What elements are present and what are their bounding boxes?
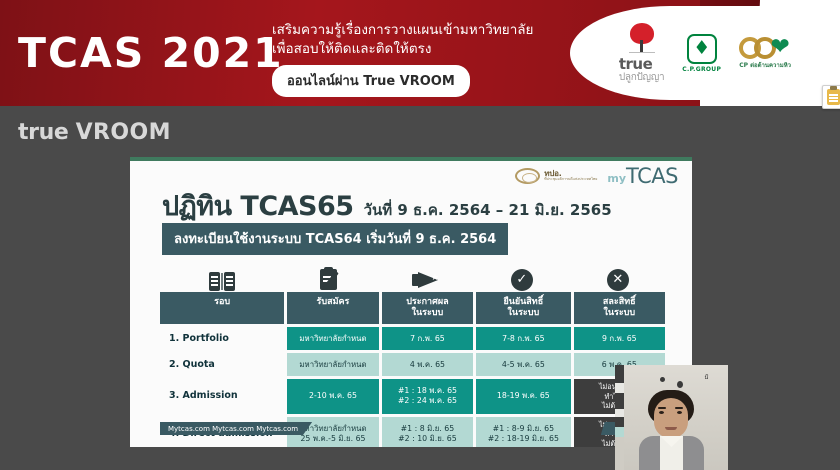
slide-title: ปฏิทิน TCAS65 <box>162 184 354 227</box>
webcam-left-strip <box>615 365 624 470</box>
column-header-waive: สละสิทธิ์ในระบบ <box>574 292 665 324</box>
rings-heart-icon: ❤ <box>739 37 791 59</box>
cell-round: 2. Quota <box>160 353 284 376</box>
cell-confirm: 4-5 พ.ค. 65 <box>476 353 570 376</box>
table-row: 1. Portfolio มหาวิทยาลัยกำหนด 7 ก.พ. 65 … <box>160 327 665 350</box>
true-logo-text: true <box>619 57 664 73</box>
slide-title-date-range: วันที่ 9 ธ.ค. 2564 – 21 มิ.ย. 2565 <box>364 198 612 222</box>
column-header-apply: รับสมัคร <box>287 292 378 324</box>
footer-contacts: Mytcas.com Mytcas.com Mytcas.com <box>160 422 312 435</box>
vroom-brand-true: true <box>18 120 68 145</box>
cp-heart-caption: CP ต่อต้านความหิว <box>739 60 791 70</box>
true-logo-subtext: ปลูกปัญญา <box>619 73 664 84</box>
cell-confirm: 7-8 ก.พ. 65 <box>476 327 570 350</box>
tpo-emblem-icon <box>515 168 540 184</box>
cp-group-caption: C.P.GROUP <box>682 66 721 73</box>
icon-cell-round <box>160 272 284 291</box>
cell-round: 3. Admission <box>160 379 284 414</box>
cell-announce: 4 พ.ค. 65 <box>382 353 473 376</box>
column-header-round: รอบ <box>160 292 284 324</box>
cell-waive: 9 ก.พ. 65 <box>574 327 665 350</box>
tpo-logo: ทปอ. ที่ประชุมอธิการบดีแห่งประเทศไทย <box>515 168 597 184</box>
true-pluk-panya-logo: true ปลูกปัญญา <box>619 23 664 83</box>
icon-cell-apply <box>284 267 378 291</box>
banner-text-block: เสริมความรู้เรื่องการวางแผนเข้ามหาวิทยาล… <box>272 20 572 97</box>
cp-group-logo: ♦ C.P.GROUP <box>682 34 721 73</box>
column-header-confirm: ยืนยันสิทธิ์ในระบบ <box>476 292 570 324</box>
slide-logo-group: ทปอ. ที่ประชุมอธิการบดีแห่งประเทศไทย my … <box>515 166 678 186</box>
cell-apply: มหาวิทยาลัยกำหนด <box>287 327 378 350</box>
icon-cell-waive: ✕ <box>571 269 665 291</box>
slide-footer: Mytcas.com Mytcas.com Mytcas.com ประกาศ … <box>160 422 665 435</box>
banner-line-1: เสริมความรู้เรื่องการวางแผนเข้ามหาวิทยาล… <box>272 20 572 39</box>
tpo-logo-subtext: ที่ประชุมอธิการบดีแห่งประเทศไทย <box>544 178 597 182</box>
cell-round: 1. Portfolio <box>160 327 284 350</box>
slide-title-row: ปฏิทิน TCAS65 วันที่ 9 ธ.ค. 2564 – 21 มิ… <box>162 184 612 227</box>
cell-confirm: 18-19 พ.ค. 65 <box>476 379 570 414</box>
registration-banner: ลงทะเบียนใช้งานระบบ TCAS64 เริ่มวันที่ 9… <box>162 223 508 255</box>
icon-cell-confirm: ✓ <box>473 269 570 291</box>
book-icon <box>209 272 235 291</box>
table-icon-row: ★ ✓ ✕ <box>160 261 665 291</box>
cp-heart-logo: ❤ CP ต่อต้านความหิว <box>739 37 791 70</box>
slide-canvas: ทปอ. ที่ประชุมอธิการบดีแห่งประเทศไทย my … <box>130 161 692 447</box>
presenter-face <box>654 398 688 438</box>
mytcas-tcas-text: TCAS <box>626 166 678 186</box>
cell-apply: 2-10 พ.ค. 65 <box>287 379 378 414</box>
tree-icon <box>629 23 655 53</box>
whiteboard-note: นิ <box>704 372 708 382</box>
vroom-brand: true VROOM <box>18 120 171 145</box>
cell-apply: มหาวิทยาลัยกำหนด <box>287 353 378 376</box>
table-row: 2. Quota มหาวิทยาลัยกำหนด 4 พ.ค. 65 4-5 … <box>160 353 665 376</box>
presentation-slide[interactable]: ทปอ. ที่ประชุมอธิการบดีแห่งประเทศไทย my … <box>130 157 692 447</box>
promo-banner: TCAS 2021 เสริมความรู้เรื่องการวางแผนเข้… <box>0 0 840 106</box>
column-header-announce: ประกาศผลในระบบ <box>382 292 473 324</box>
cell-announce: #1 : 18 พ.ค. 65#2 : 24 พ.ค. 65 <box>382 379 473 414</box>
mytcas-logo: my TCAS <box>607 166 678 186</box>
cell-announce: 7 ก.พ. 65 <box>382 327 473 350</box>
sponsor-logos: true ปลูกปัญญา ♦ C.P.GROUP ❤ CP ต่อต้านค… <box>570 6 840 100</box>
icon-cell-announce: ★ <box>379 269 473 291</box>
banner-title: TCAS 2021 <box>18 30 284 76</box>
vroom-brand-vroom: VROOM <box>76 120 171 145</box>
table-header-row: รอบ รับสมัคร ประกาศผลในระบบ ยืนยันสิทธิ์… <box>160 292 665 324</box>
presenter-webcam[interactable]: นิ <box>615 365 728 470</box>
banner-pill-label: ออนไลน์ผ่าน True VROOM <box>272 65 470 97</box>
screen-root: TCAS 2021 เสริมความรู้เรื่องการวางแผนเข้… <box>0 0 840 470</box>
megaphone-icon: ★ <box>412 269 440 291</box>
x-circle-icon: ✕ <box>607 269 629 291</box>
banner-line-2: เพื่อสอบให้ติดและติดให้ตรง <box>272 39 572 58</box>
check-circle-icon: ✓ <box>511 269 533 291</box>
clipboard-icon[interactable] <box>822 85 840 109</box>
table-row: 3. Admission 2-10 พ.ค. 65 #1 : 18 พ.ค. 6… <box>160 379 665 414</box>
clipboard-pen-icon <box>320 267 342 291</box>
cp-leaf-icon: ♦ <box>687 34 717 64</box>
